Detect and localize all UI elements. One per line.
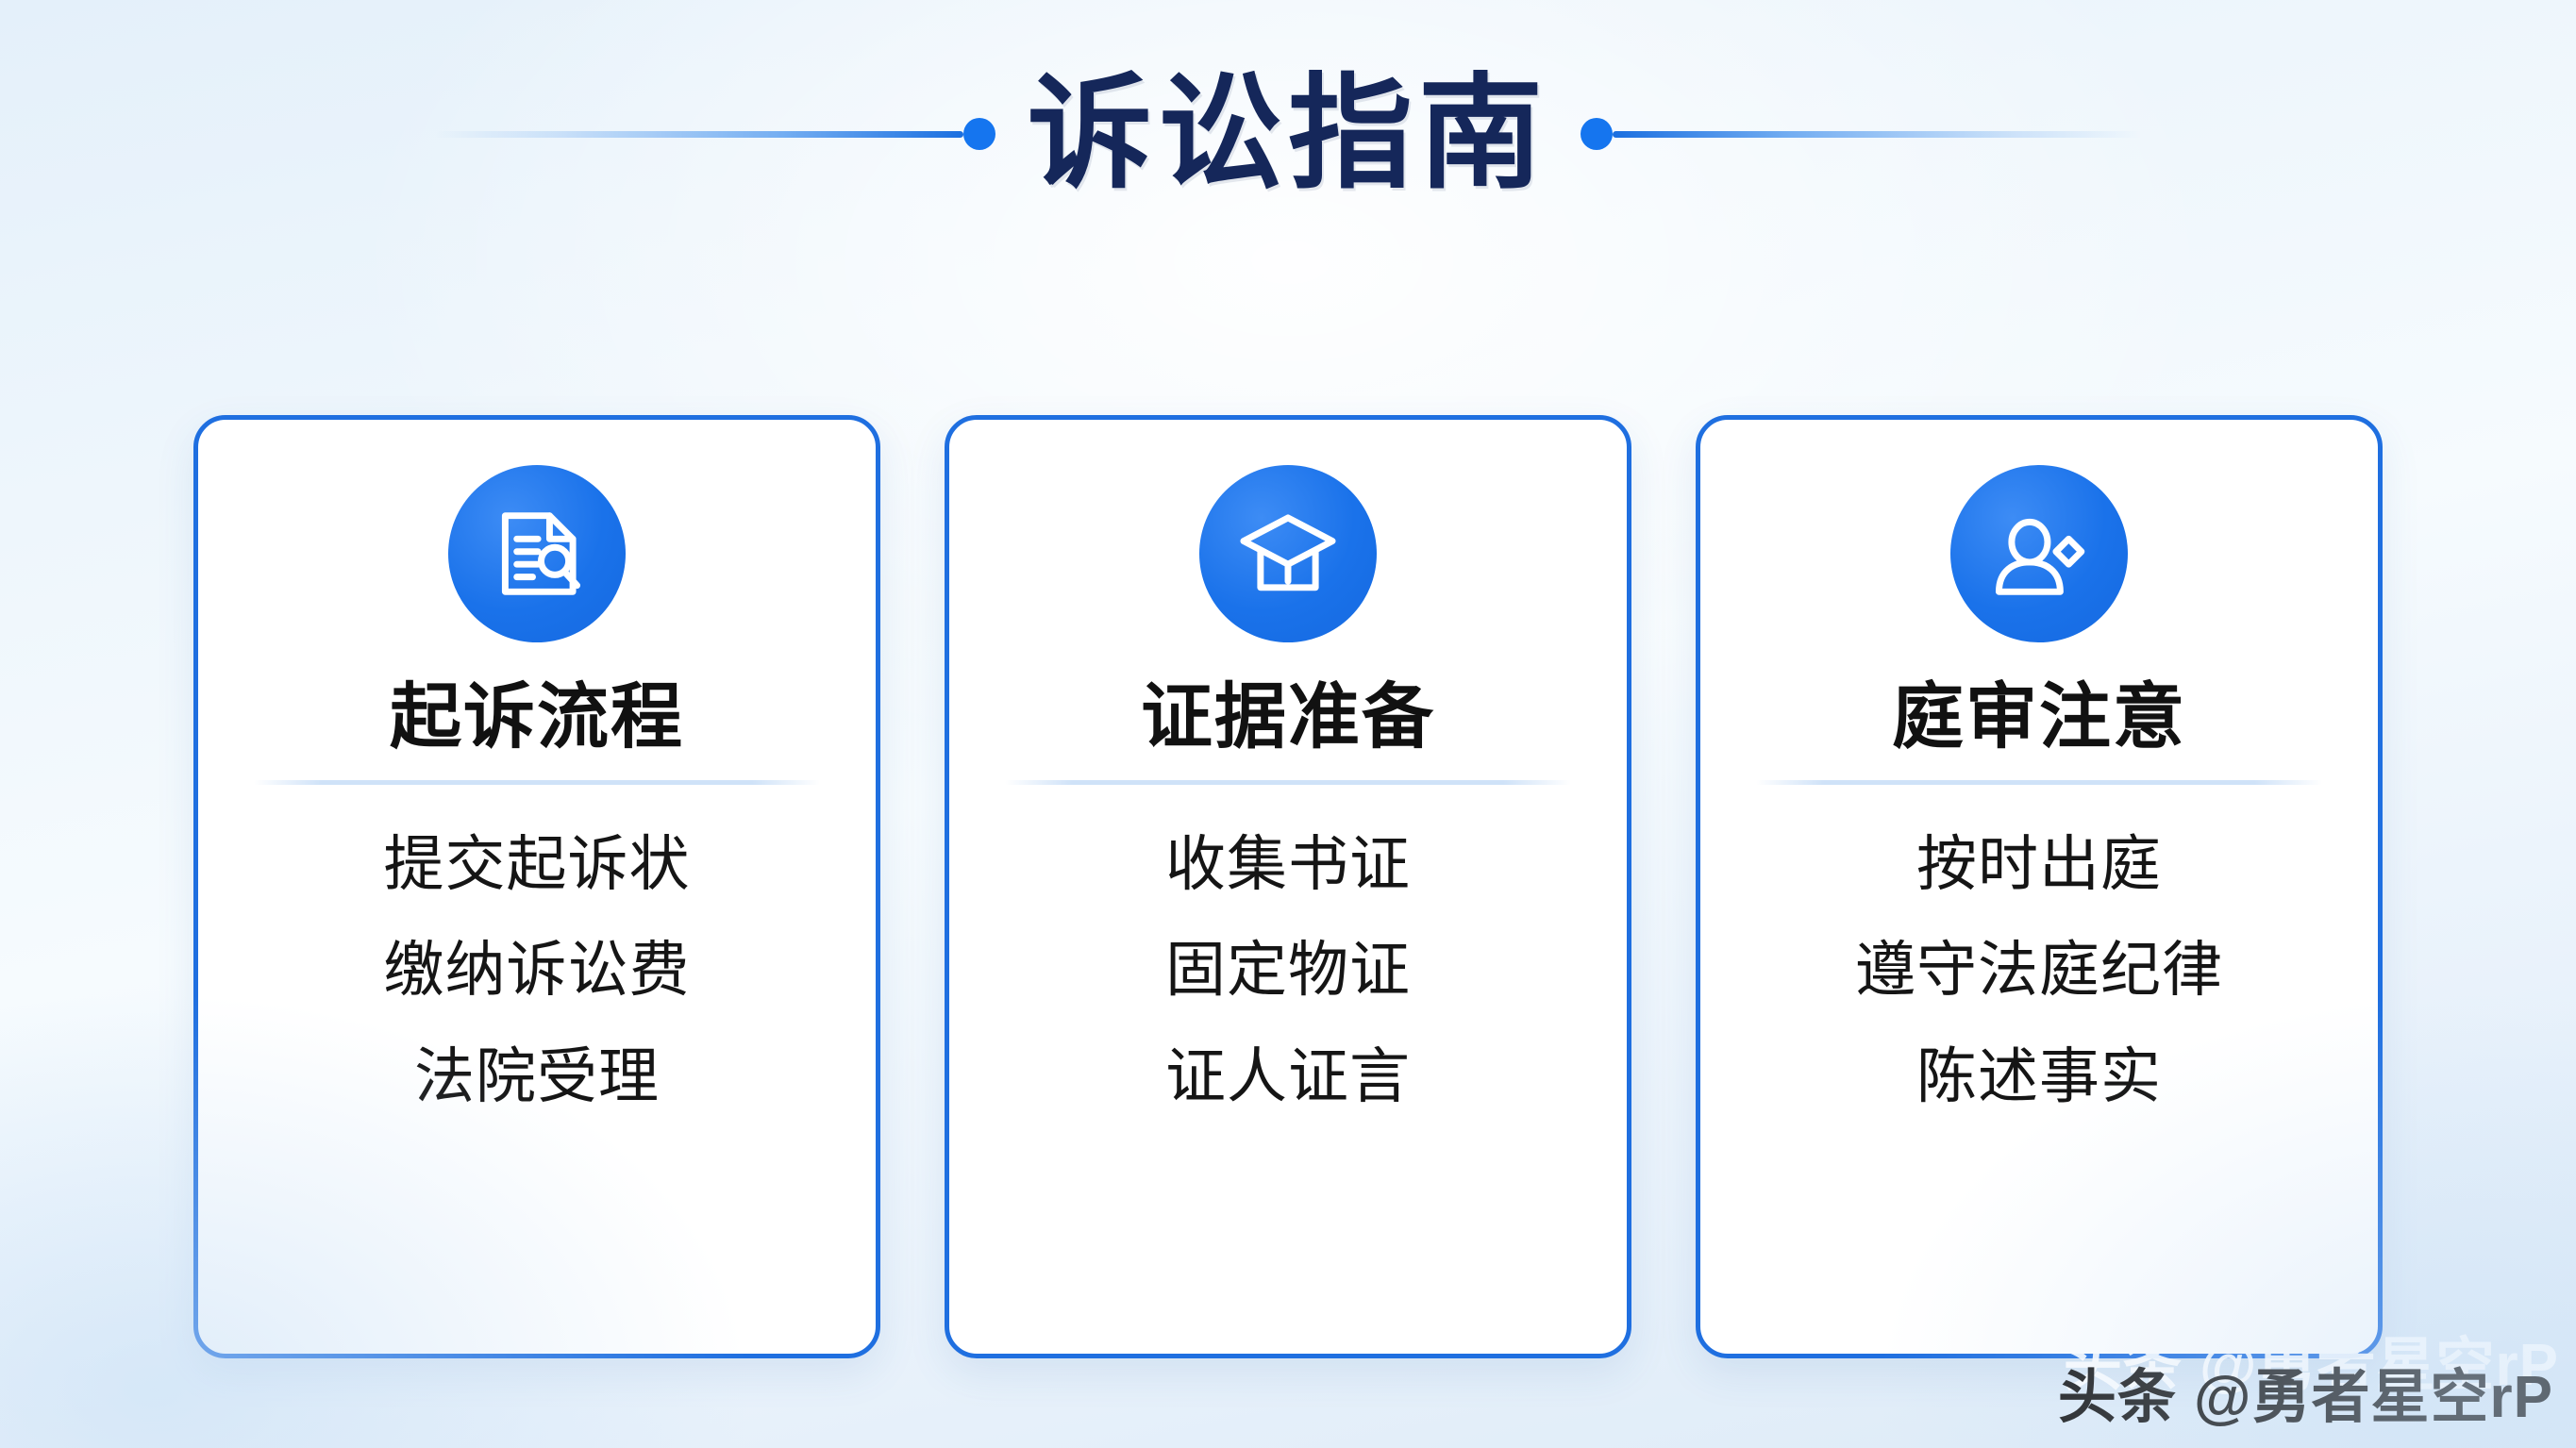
- list-item[interactable]: 缴纳诉讼费: [384, 917, 691, 1023]
- person-badge-icon: [1950, 465, 2128, 642]
- card-divider: [254, 780, 820, 785]
- decoration-line-left: [435, 131, 963, 138]
- watermark: 头条 @勇者星空rP: [2058, 1369, 2553, 1427]
- decoration-dot-left: [963, 118, 995, 150]
- card-item-list: 收集书证 固定物证 证人证言: [949, 811, 1627, 1129]
- card-title: 证据准备: [1141, 680, 1435, 756]
- poster-canvas: 诉讼指南 起诉流程: [0, 0, 2576, 1448]
- list-item[interactable]: 固定物证: [1165, 917, 1411, 1023]
- list-item[interactable]: 陈述事实: [1916, 1024, 2162, 1129]
- title-decoration-left: [429, 122, 995, 146]
- card-title: 起诉流程: [390, 680, 684, 756]
- list-item[interactable]: 法院受理: [414, 1024, 660, 1129]
- card-item-list: 按时出庭 遵守法庭纪律 陈述事实: [1700, 811, 2378, 1129]
- card-title: 庭审注意: [1892, 680, 2186, 756]
- title-decoration-right: [1581, 122, 2147, 146]
- card-qisu-liucheng[interactable]: 起诉流程 提交起诉状 缴纳诉讼费 法院受理: [193, 415, 880, 1358]
- card-tingshen-zhuyi[interactable]: 庭审注意 按时出庭 遵守法庭纪律 陈述事实: [1696, 415, 2383, 1358]
- card-item-list: 提交起诉状 缴纳诉讼费 法院受理: [198, 811, 876, 1129]
- list-item[interactable]: 收集书证: [1165, 811, 1411, 917]
- decoration-line-right: [1613, 131, 2141, 138]
- graduation-cap-icon: [1199, 465, 1377, 642]
- card-divider: [1005, 780, 1571, 785]
- list-item[interactable]: 按时出庭: [1916, 811, 2162, 917]
- list-item[interactable]: 遵守法庭纪律: [1855, 917, 2223, 1023]
- document-search-icon: [448, 465, 626, 642]
- decoration-dot-right: [1581, 118, 1613, 150]
- page-title: 诉讼指南: [1028, 72, 1548, 196]
- list-item[interactable]: 证人证言: [1165, 1024, 1411, 1129]
- card-row: 起诉流程 提交起诉状 缴纳诉讼费 法院受理 证据准备 收集书证 固定物证: [193, 415, 2383, 1358]
- page-header: 诉讼指南: [0, 49, 2576, 219]
- card-divider: [1756, 780, 2322, 785]
- list-item[interactable]: 提交起诉状: [384, 811, 691, 917]
- card-zhengju-zhunbei[interactable]: 证据准备 收集书证 固定物证 证人证言: [945, 415, 1631, 1358]
